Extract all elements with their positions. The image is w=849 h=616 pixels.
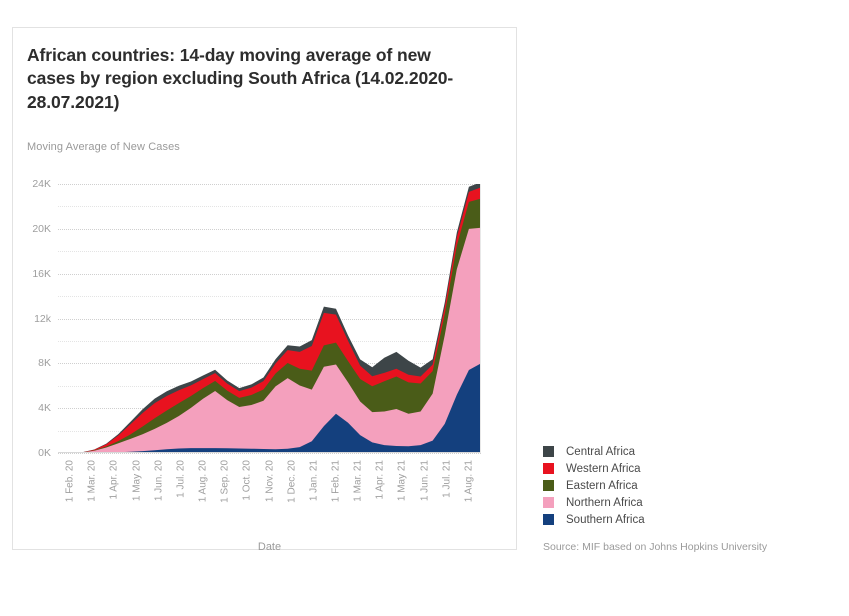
x-axis-tick-label: 1 Mar. 21 — [353, 460, 364, 502]
x-axis-tick-label: 1 Sep. 20 — [220, 460, 231, 503]
y-axis-tick-label: 4K — [38, 402, 51, 414]
y-axis-tick-label: 20K — [32, 223, 51, 235]
x-axis-tick-label: 1 Jun. 20 — [153, 460, 164, 501]
x-axis-tick-label: 1 Feb. 21 — [330, 460, 341, 502]
x-axis-tick-label: 1 Feb. 20 — [65, 460, 76, 502]
legend-item-label: Western Africa — [566, 463, 641, 475]
plot-right-border — [480, 184, 481, 453]
x-axis-tick-label: 1 Aug. 21 — [463, 460, 474, 502]
legend-item-label: Central Africa — [566, 446, 635, 458]
legend-item-label: Southern Africa — [566, 514, 645, 526]
legend-item[interactable]: Western Africa — [543, 460, 645, 477]
x-axis-tick-label: 1 Oct. 20 — [242, 460, 253, 501]
x-axis-tick-label: 1 Dec. 20 — [286, 460, 297, 503]
legend-swatch-icon — [543, 463, 554, 474]
x-axis-tick-label: 1 Jul. 21 — [441, 460, 452, 498]
area-series-layer — [58, 184, 481, 453]
legend-swatch-icon — [543, 497, 554, 508]
x-axis-tick-label: 1 Apr. 20 — [109, 460, 120, 499]
x-axis-tick-label: 1 Nov. 20 — [264, 460, 275, 502]
legend-item-label: Eastern Africa — [566, 480, 638, 492]
gridline-major — [58, 453, 481, 454]
legend-swatch-icon — [543, 514, 554, 525]
page-title: African countries: 14-day moving average… — [27, 44, 467, 114]
y-axis-tick-label: 8K — [38, 357, 51, 369]
x-axis-tick-label: 1 Aug. 20 — [198, 460, 209, 502]
source-note: Source: MIF based on Johns Hopkins Unive… — [543, 541, 767, 553]
chart-legend: Central AfricaWestern AfricaEastern Afri… — [543, 443, 645, 528]
x-axis-tick-label: 1 Jun. 21 — [419, 460, 430, 501]
x-axis-tick-label: 1 Jul. 20 — [175, 460, 186, 498]
chart-card: African countries: 14-day moving average… — [12, 27, 517, 550]
legend-item[interactable]: Southern Africa — [543, 511, 645, 528]
chart-plot-area: 0K4K8K12k16K20K24K 1 Feb. 201 Mar. 201 A… — [58, 184, 481, 453]
legend-swatch-icon — [543, 480, 554, 491]
x-axis-line — [58, 452, 481, 453]
y-axis-tick-label: 16K — [32, 268, 51, 280]
legend-item-label: Northern Africa — [566, 497, 643, 509]
y-axis-tick-label: 0K — [38, 447, 51, 459]
y-axis-tick-label: 24K — [32, 178, 51, 190]
x-axis-tick-label: 1 Mar. 20 — [87, 460, 98, 502]
stacked-area-svg — [58, 184, 481, 453]
legend-item[interactable]: Northern Africa — [543, 494, 645, 511]
legend-swatch-icon — [543, 446, 554, 457]
x-axis-tick-label: 1 May 21 — [397, 460, 408, 501]
y-axis-title: Moving Average of New Cases — [27, 141, 180, 153]
legend-item[interactable]: Central Africa — [543, 443, 645, 460]
y-axis-tick-label: 12k — [34, 313, 51, 325]
x-axis-tick-label: 1 Jan. 21 — [308, 460, 319, 501]
x-axis-tick-label: 1 Apr. 21 — [375, 460, 386, 499]
area-series-northern-africa — [58, 228, 481, 453]
x-axis-tick-label: 1 May 20 — [131, 460, 142, 501]
x-axis-title: Date — [58, 541, 481, 553]
legend-item[interactable]: Eastern Africa — [543, 477, 645, 494]
